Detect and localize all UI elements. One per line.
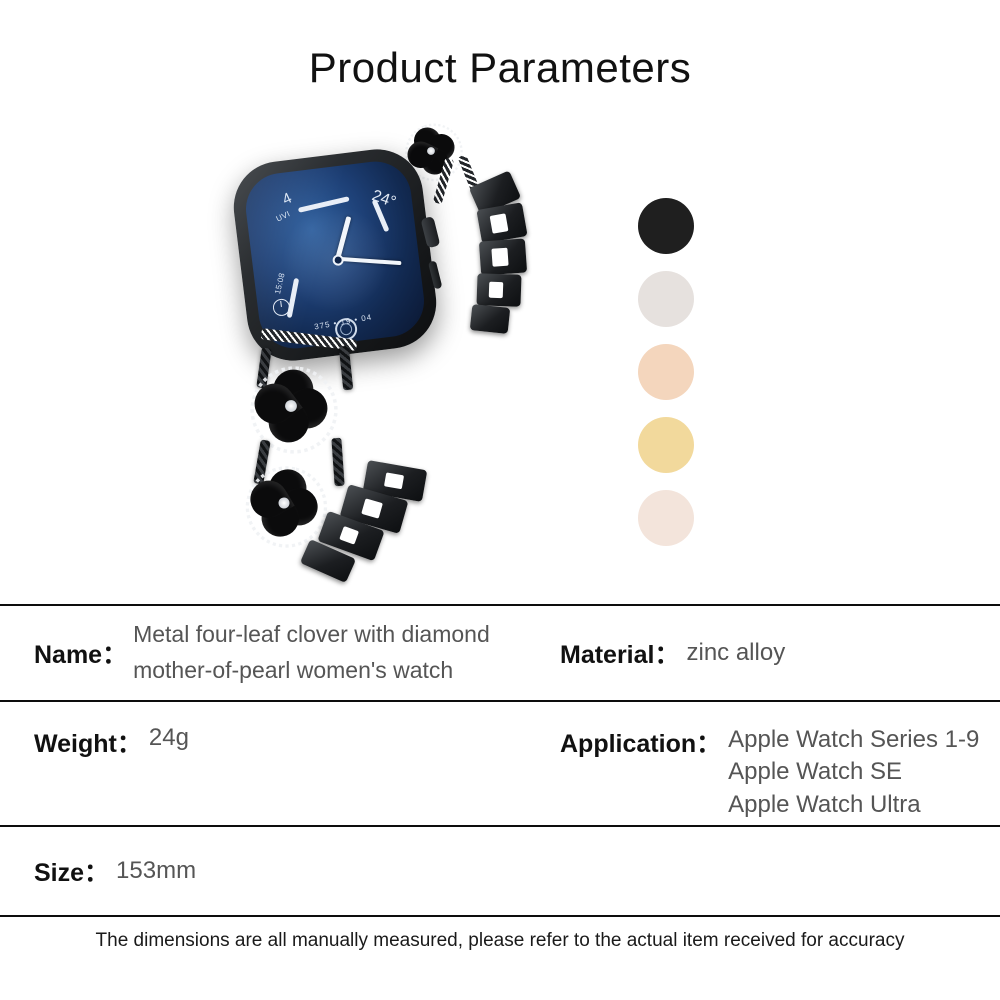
measurement-disclaimer: The dimensions are all manually measured…	[0, 930, 1000, 952]
spec-value-material: zinc alloy	[686, 639, 785, 667]
color-swatch-list	[638, 198, 694, 546]
bracelet-link	[476, 202, 527, 243]
clover-charm-middle	[250, 365, 333, 448]
digital-crown	[420, 216, 440, 248]
bracelet-link	[476, 273, 521, 307]
link-hole	[491, 248, 508, 267]
application-item: Apple Watch Series 1-9	[728, 724, 979, 756]
product-hero: 4 UVI 24° 15:08 375 • 19 • 04	[0, 120, 1000, 590]
spec-value-name-line1: Metal four-leaf clover with diamond	[133, 617, 490, 653]
spec-label-weight: Weight：	[34, 724, 142, 760]
spec-cell-size: Size： 153mm	[0, 827, 548, 915]
spec-value-size: 153mm	[116, 857, 196, 885]
link-hole	[490, 213, 509, 234]
color-swatch-rose-gold[interactable]	[638, 344, 694, 400]
spec-cell-weight: Weight： 24g	[0, 702, 548, 825]
spec-label-size: Size：	[34, 853, 109, 889]
color-swatch-beige[interactable]	[638, 490, 694, 546]
table-row-weight-application: Weight： 24g Application： Apple Watch Ser…	[0, 702, 1000, 827]
spec-cell-size-empty	[548, 827, 1000, 915]
spec-table: Name： Metal four-leaf clover with diamon…	[0, 604, 1000, 917]
table-row-size: Size： 153mm	[0, 827, 1000, 917]
watch-screen: 4 UVI 24° 15:08 375 • 19 • 04	[242, 158, 428, 353]
spec-cell-material: Material： zinc alloy	[548, 606, 1000, 700]
color-swatch-silver[interactable]	[638, 271, 694, 327]
spec-cell-application: Application： Apple Watch Series 1-9 Appl…	[548, 702, 1000, 825]
bracelet-chain	[331, 438, 344, 487]
spec-value-name: Metal four-leaf clover with diamond moth…	[133, 617, 490, 688]
spec-value-weight: 24g	[149, 724, 189, 752]
link-hole	[339, 526, 359, 545]
spec-label-application: Application：	[560, 724, 721, 760]
link-hole	[489, 282, 504, 298]
spec-value-application-list: Apple Watch Series 1-9 Apple Watch SE Ap…	[728, 724, 979, 821]
page-title: Product Parameters	[0, 44, 1000, 92]
application-item: Apple Watch Ultra	[728, 789, 979, 821]
clover-charm-lower	[243, 462, 326, 545]
spec-label-material: Material：	[560, 635, 679, 671]
side-button	[428, 260, 443, 289]
spec-value-name-line2: mother-of-pearl women's watch	[133, 653, 490, 689]
product-image: 4 UVI 24° 15:08 375 • 19 • 04	[215, 120, 545, 590]
bracelet-link	[479, 238, 527, 275]
spec-cell-name: Name： Metal four-leaf clover with diamon…	[0, 606, 548, 700]
spec-label-name: Name：	[34, 635, 127, 671]
table-row-name-material: Name： Metal four-leaf clover with diamon…	[0, 606, 1000, 702]
link-hole	[384, 472, 404, 489]
color-swatch-black[interactable]	[638, 198, 694, 254]
bracelet-link	[470, 304, 511, 334]
link-hole	[361, 498, 383, 518]
application-item: Apple Watch SE	[728, 756, 979, 788]
color-swatch-gold[interactable]	[638, 417, 694, 473]
